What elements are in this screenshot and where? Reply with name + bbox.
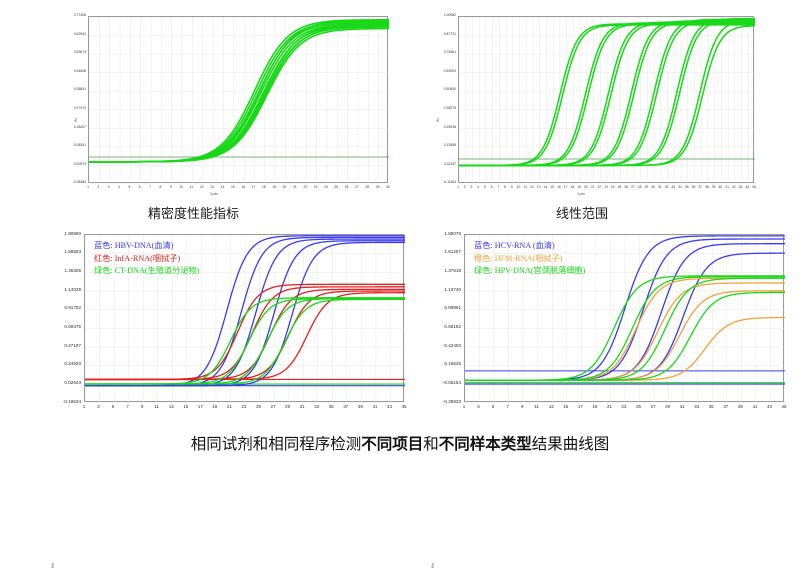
x-tick-label: 35 [705,405,717,409]
precision-curves [89,17,389,184]
main-caption-seg2: 不同项目 [361,435,423,453]
y-tick-label: 0.42403 [428,344,461,349]
x-tick-label: 5 [487,405,499,409]
multi-target-y-axis-title: Rn [50,563,55,568]
x-tick-label: 31 [296,405,308,409]
linearity-curves [459,17,755,184]
legend-color-label-hfm: 橙色: [474,254,493,263]
y-tick-label: 0.18207 [70,126,86,129]
y-tick-label: 0.63000 [432,70,456,73]
x-tick-label: 21 [223,405,235,409]
y-tick-label: 0.89961 [428,306,461,311]
precision-plot-area [88,16,388,183]
x-tick-label: 1 [78,405,90,409]
figure-page: Rn 0.774080.629410.536740.446080.358410.… [0,0,800,470]
y-tick-label: 0.25918 [432,126,456,129]
x-tick-label: 15 [560,405,572,409]
x-tick-label: 27 [267,405,279,409]
x-tick-label: 29 [282,405,294,409]
legend-name-hpv: HPV-DNA(宫颈脱落细胞) [495,266,586,275]
x-tick-label: 23 [618,405,630,409]
multi-sample-y-axis-title: Rn [430,563,435,568]
x-tick-label: 33 [691,405,703,409]
x-tick-label: 11 [151,405,163,409]
x-tick-label: 30 [382,186,394,189]
panel-precision: Rn 0.774080.629410.536740.446080.358410.… [70,12,390,197]
x-tick-label: 19 [209,405,221,409]
y-tick-label: 1.80860 [48,232,81,237]
x-tick-label: 17 [194,405,206,409]
panel-linearity: Rn 1.000820.877210.753610.630000.506400.… [432,12,757,197]
panel-multi-target: Rn 1.808601.585831.363061.140290.917520.… [48,232,408,422]
x-tick-label: 19 [589,405,601,409]
legend-entry-ct: 绿色: CT-DNA(生殖道分泌物) [94,265,199,278]
y-tick-label: 0.53674 [70,51,86,54]
main-caption-seg3: 和 [423,435,439,453]
x-tick-label: 37 [720,405,732,409]
y-tick-label: 0.75361 [432,51,456,54]
linearity-y-axis-title: Rn [436,118,440,122]
y-tick-label: 1.13740 [428,288,461,293]
x-tick-label: 27 [647,405,659,409]
x-tick-label: 7 [122,405,134,409]
y-tick-label: -0.19634 [48,400,81,405]
x-tick-label: 31 [676,405,688,409]
legend-name-ct: CT-DNA(生殖道分泌物) [115,266,200,275]
x-tick-label: 9 [516,405,528,409]
x-tick-label: 33 [311,405,323,409]
y-tick-label: 1.58583 [48,250,81,255]
y-tick-label: 0.27074 [70,107,86,110]
y-tick-label: -0.05154 [428,381,461,386]
x-tick-label: 41 [369,405,381,409]
legend-entry-hpv: 绿色: HPV-DNA(宫颈脱落细胞) [474,265,585,278]
x-tick-label: 7 [502,405,514,409]
legend-entry-infa: 红色: InfA-RNA(咽拭子) [94,253,199,266]
x-tick-label: 3 [473,405,485,409]
main-caption-seg5: 结果曲线图 [532,435,610,453]
legend-color-label-ct: 绿色: [94,266,113,275]
x-tick-label: 45 [398,405,410,409]
x-tick-label: 39 [354,405,366,409]
precision-y-axis-title: Rn [74,118,78,122]
legend-name-infa: InfA-RNA(咽拭子) [115,254,181,263]
y-tick-label: 0.35841 [70,88,86,91]
x-tick-label: 25 [253,405,265,409]
main-caption-seg1: 相同试剂和相同程序检测 [191,435,362,453]
y-tick-label: 1.85076 [428,232,461,237]
x-tick-label: 45 [778,405,790,409]
y-tick-label: 1.61297 [428,250,461,255]
caption-linearity: 线性范围 [556,203,608,222]
y-tick-label: 0.01197 [432,163,456,166]
linearity-plot-area [458,16,754,183]
y-tick-label: 0.69475 [48,325,81,330]
x-tick-label: 37 [340,405,352,409]
y-tick-label: 1.36306 [48,269,81,274]
y-tick-label: 0.62941 [70,33,86,36]
y-tick-label: 0.44608 [70,70,86,73]
y-tick-label: 0.24920 [48,362,81,367]
x-tick-label: 29 [662,405,674,409]
x-tick-label: 3 [93,405,105,409]
legend-name-hcv: HCV-RNA (血清) [495,241,555,250]
y-tick-label: -0.28933 [428,400,461,405]
x-tick-label: 43 [763,405,775,409]
y-tick-label: 0.38279 [432,107,456,110]
x-tick-label: 39 [734,405,746,409]
y-tick-label: 0.08341 [70,144,86,147]
linearity-x-axis-title: Cycle [577,192,585,196]
y-tick-label: 0.50640 [432,88,456,91]
main-caption: 相同试剂和相同程序检测不同项目和不同样本类型结果曲线图 [0,432,800,454]
x-tick-label: 45 [748,186,760,189]
multi-sample-legend: 蓝色: HCV-RNA (血清) 橙色: HFM-RNA(咽拭子) 绿色: HP… [474,240,585,278]
x-tick-label: 13 [165,405,177,409]
legend-color-label-hcv: 蓝色: [474,241,493,250]
y-tick-label: 0.66182 [428,325,461,330]
x-tick-label: 23 [238,405,250,409]
legend-entry-hbv: 蓝色: HBV-DNA(血清) [94,240,199,253]
y-tick-label: 0.87721 [432,33,456,36]
x-tick-label: 13 [545,405,557,409]
panel-multi-sample-type: Rn 1.850761.612971.375181.137400.899610.… [428,232,788,422]
x-tick-label: 11 [531,405,543,409]
y-tick-label: 0.18625 [428,362,461,367]
x-tick-label: 35 [325,405,337,409]
y-tick-label: 0.00574 [70,163,86,166]
caption-precision: 精密度性能指标 [148,203,239,222]
legend-entry-hcv: 蓝色: HCV-RNA (血清) [474,240,585,253]
y-tick-label: 1.37518 [428,269,461,274]
y-tick-label: 1.14029 [48,288,81,293]
y-tick-label: 0.47197 [48,344,81,349]
y-tick-label: -0.08383 [70,181,86,184]
x-tick-label: 15 [180,405,192,409]
y-tick-label: 0.13558 [432,144,456,147]
y-tick-label: 0.77408 [70,14,86,17]
x-tick-label: 9 [136,405,148,409]
legend-entry-hfm: 橙色: HFM-RNA(咽拭子) [474,253,585,266]
y-tick-label: 0.91752 [48,306,81,311]
y-tick-label: -0.11163 [432,181,456,184]
y-tick-label: 1.00082 [432,14,456,17]
multi-target-legend: 蓝色: HBV-DNA(血清) 红色: InfA-RNA(咽拭子) 绿色: CT… [94,240,199,278]
x-tick-label: 43 [383,405,395,409]
x-tick-label: 5 [107,405,119,409]
legend-color-label-hpv: 绿色: [474,266,493,275]
legend-name-hbv: HBV-DNA(血清) [115,241,174,250]
precision-x-axis-title: Cycle [210,192,218,196]
legend-name-hfm: HFM-RNA(咽拭子) [495,254,563,263]
legend-color-label-hbv: 蓝色: [94,241,113,250]
legend-color-label-infa: 红色: [94,254,113,263]
x-tick-label: 25 [633,405,645,409]
x-tick-label: 41 [749,405,761,409]
x-tick-label: 17 [574,405,586,409]
x-tick-label: 21 [603,405,615,409]
y-tick-label: 0.02643 [48,381,81,386]
main-caption-seg4: 不同样本类型 [439,435,532,453]
x-tick-label: 1 [458,405,470,409]
